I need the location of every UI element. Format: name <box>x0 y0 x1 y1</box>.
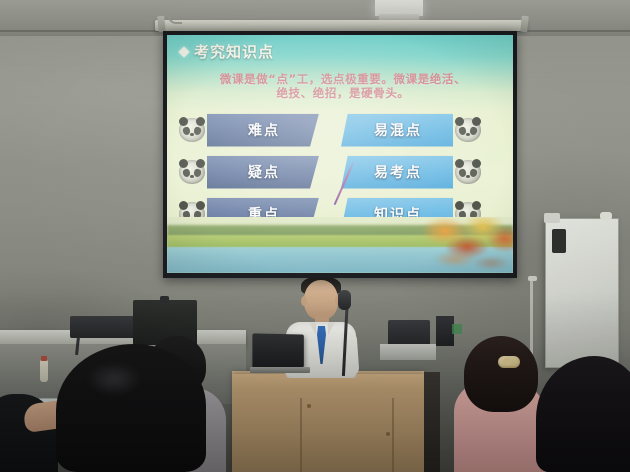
hair-highlight <box>86 362 142 396</box>
whiteboard-stand-top <box>528 276 537 281</box>
audience-member-right-head <box>464 336 538 412</box>
grid-cell: 难点 <box>179 114 341 147</box>
presenter-ear <box>301 296 307 306</box>
landscape-reflection <box>425 251 513 273</box>
podium-side-panel <box>424 372 440 472</box>
podium-equipment <box>380 344 436 360</box>
roller-hook <box>168 12 182 24</box>
podium <box>232 374 424 472</box>
podium-seam <box>392 398 394 472</box>
podium-knob <box>386 432 390 436</box>
water-bottle <box>40 360 48 382</box>
indicator-light <box>452 324 462 334</box>
equipment-box <box>70 316 136 338</box>
slide-grid-row: 难点 易混点 <box>179 109 509 151</box>
shirt-collar <box>309 322 316 335</box>
slide-surface: 考究知识点 微课是做“点”工，选点极重要。微课是绝活、 绝技、绝招，是硬骨头。 … <box>167 35 513 273</box>
shirt-collar <box>328 322 335 335</box>
whiteboard <box>545 218 619 368</box>
whiteboard-tray <box>544 213 560 223</box>
slide-button-yihundian: 易混点 <box>341 114 453 147</box>
slide-button-nandian: 难点 <box>207 114 319 147</box>
grid-cell: 疑点 <box>179 156 341 189</box>
podium-knob <box>307 404 311 408</box>
diamond-bullet-icon <box>178 46 189 57</box>
whiteboard-knob <box>600 212 612 220</box>
slide-button-yikaodian: 易考点 <box>341 156 453 189</box>
podium-seam <box>300 398 302 472</box>
water-bottle-cap <box>41 356 47 361</box>
slide-title-text: 考究知识点 <box>194 41 274 62</box>
slide-body-text: 微课是做“点”工，选点极重要。微课是绝活、 绝技、绝招，是硬骨头。 <box>183 72 503 100</box>
grid-cell: 易混点 <box>341 114 509 147</box>
grid-cell: 易考点 <box>341 156 509 189</box>
podium-equipment <box>388 320 430 346</box>
slide-body-line-2: 绝技、绝招，是硬骨头。 <box>183 86 503 100</box>
microphone-icon <box>338 290 351 310</box>
slide-button-yidian: 疑点 <box>207 156 319 189</box>
hair-clip-icon <box>498 356 520 368</box>
panda-icon <box>179 160 205 184</box>
slide-title: 考究知识点 <box>180 41 274 62</box>
slide-body-line-1: 微课是做“点”工，选点极重要。微课是绝活、 <box>183 72 503 86</box>
panda-icon <box>179 118 205 142</box>
laptop-base <box>250 367 310 373</box>
projection-screen-roller <box>155 20 527 31</box>
slide-grid-row: 疑点 易考点 <box>179 151 509 193</box>
whiteboard-clip <box>552 229 566 253</box>
monitor-stand <box>160 296 169 303</box>
panda-icon <box>455 118 481 142</box>
slide-footer-photo <box>167 217 513 273</box>
audience-member-center-left <box>56 344 206 472</box>
laptop <box>252 333 303 368</box>
lecture-photo: 考究知识点 微课是做“点”工，选点极重要。微课是绝活、 绝技、绝招，是硬骨头。 … <box>0 0 630 472</box>
presenter-head <box>304 280 338 320</box>
panda-icon <box>455 160 481 184</box>
projection-screen: 考究知识点 微课是做“点”工，选点极重要。微课是绝活、 绝技、绝招，是硬骨头。 … <box>163 31 517 278</box>
